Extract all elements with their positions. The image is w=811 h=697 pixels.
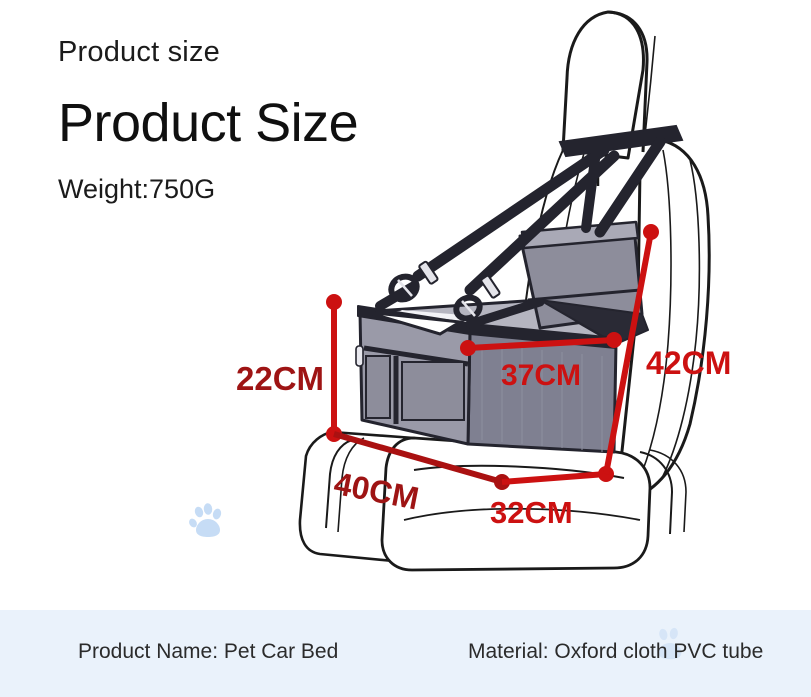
footer-material: Material: Oxford cloth PVC tube bbox=[468, 640, 763, 664]
product-illustration bbox=[0, 0, 811, 620]
dimension-label-width-top: 37CM bbox=[501, 359, 581, 393]
dimension-label-height-front: 22CM bbox=[236, 360, 324, 398]
dimension-label-height-back: 42CM bbox=[646, 345, 731, 382]
dimension-label-width-front: 32CM bbox=[490, 495, 573, 531]
paw-print-icon bbox=[186, 501, 228, 543]
footer-info-bar: Product Name: Pet Car Bed Material: Oxfo… bbox=[0, 610, 811, 697]
product-size-infographic: Product size Product Size Weight:750G bbox=[0, 0, 811, 697]
dimension-line-22cm bbox=[326, 294, 342, 442]
footer-product-name: Product Name: Pet Car Bed bbox=[78, 640, 338, 664]
